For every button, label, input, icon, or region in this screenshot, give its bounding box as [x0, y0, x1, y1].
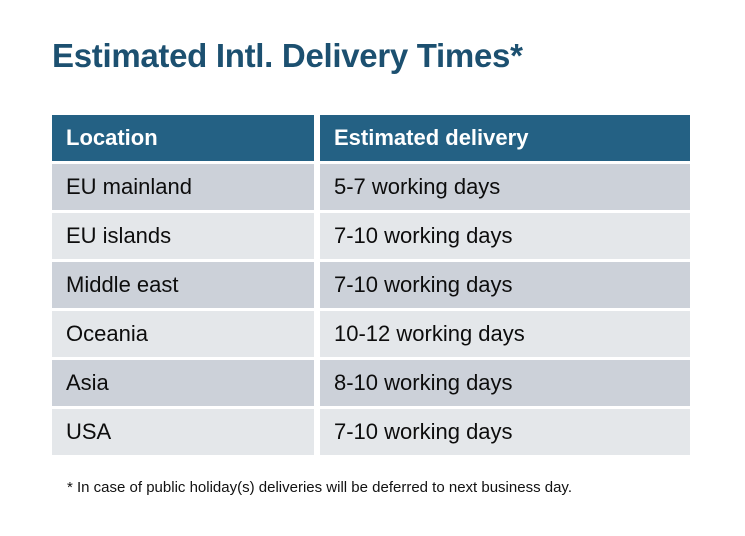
delivery-times-page: Estimated Intl. Delivery Times* Location… [0, 0, 745, 536]
table-row: EU islands 7-10 working days [52, 213, 690, 259]
footnote-text: * In case of public holiday(s) deliverie… [67, 479, 572, 496]
table-row: USA 7-10 working days [52, 409, 690, 455]
cell-location: Asia [52, 360, 314, 406]
delivery-times-table: Location Estimated delivery EU mainland … [52, 115, 690, 455]
cell-location: Middle east [52, 262, 314, 308]
cell-estimated-delivery: 7-10 working days [320, 213, 690, 259]
cell-estimated-delivery: 10-12 working days [320, 311, 690, 357]
column-header-estimated-delivery: Estimated delivery [320, 115, 690, 161]
cell-location: EU mainland [52, 164, 314, 210]
table-row: EU mainland 5-7 working days [52, 164, 690, 210]
cell-estimated-delivery: 8-10 working days [320, 360, 690, 406]
cell-location: USA [52, 409, 314, 455]
column-header-location: Location [52, 115, 314, 161]
table-header-row: Location Estimated delivery [52, 115, 690, 161]
table-row: Middle east 7-10 working days [52, 262, 690, 308]
cell-location: Oceania [52, 311, 314, 357]
cell-estimated-delivery: 7-10 working days [320, 262, 690, 308]
cell-estimated-delivery: 5-7 working days [320, 164, 690, 210]
cell-estimated-delivery: 7-10 working days [320, 409, 690, 455]
table-row: Oceania 10-12 working days [52, 311, 690, 357]
cell-location: EU islands [52, 213, 314, 259]
table-row: Asia 8-10 working days [52, 360, 690, 406]
page-title: Estimated Intl. Delivery Times* [52, 36, 523, 76]
